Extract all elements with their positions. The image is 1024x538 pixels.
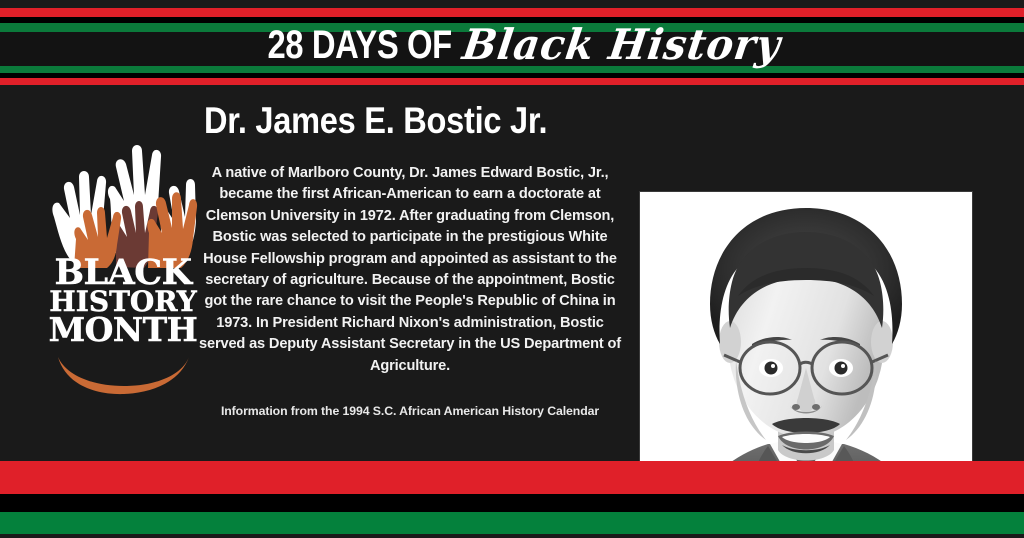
top-red-stripe — [0, 8, 1024, 17]
page-title: Dr. James E. Bostic Jr. — [204, 101, 577, 141]
bottom-red-stripe — [0, 461, 1024, 494]
feature-text-column: Dr. James E. Bostic Jr. A native of Marl… — [196, 85, 628, 419]
bottom-black-stripe — [0, 494, 1024, 512]
bottom-green-stripe — [0, 512, 1024, 534]
title-prefix: 28 DAYS OF — [267, 25, 451, 65]
black-history-month-poster: 28 DAYS OF Black History — [0, 0, 1024, 538]
logo-wordmark: BLACK HISTORY MONTH — [48, 257, 198, 345]
raised-hands-icon — [48, 133, 198, 268]
biography-paragraph: A native of Marlboro County, Dr. James E… — [196, 163, 624, 377]
source-credit: Information from the 1994 S.C. African A… — [196, 403, 624, 419]
header-bottom-red-stripe — [0, 78, 1024, 85]
black-history-month-logo: BLACK HISTORY MONTH — [48, 133, 198, 433]
main-content: BLACK HISTORY MONTH Dr. James E. Bostic … — [0, 85, 1024, 461]
poster-title: 28 DAYS OF Black History — [0, 19, 1024, 71]
title-script: Black History — [460, 24, 783, 66]
logo-line-month: MONTH — [48, 315, 198, 345]
orange-swoosh-icon — [56, 355, 191, 395]
